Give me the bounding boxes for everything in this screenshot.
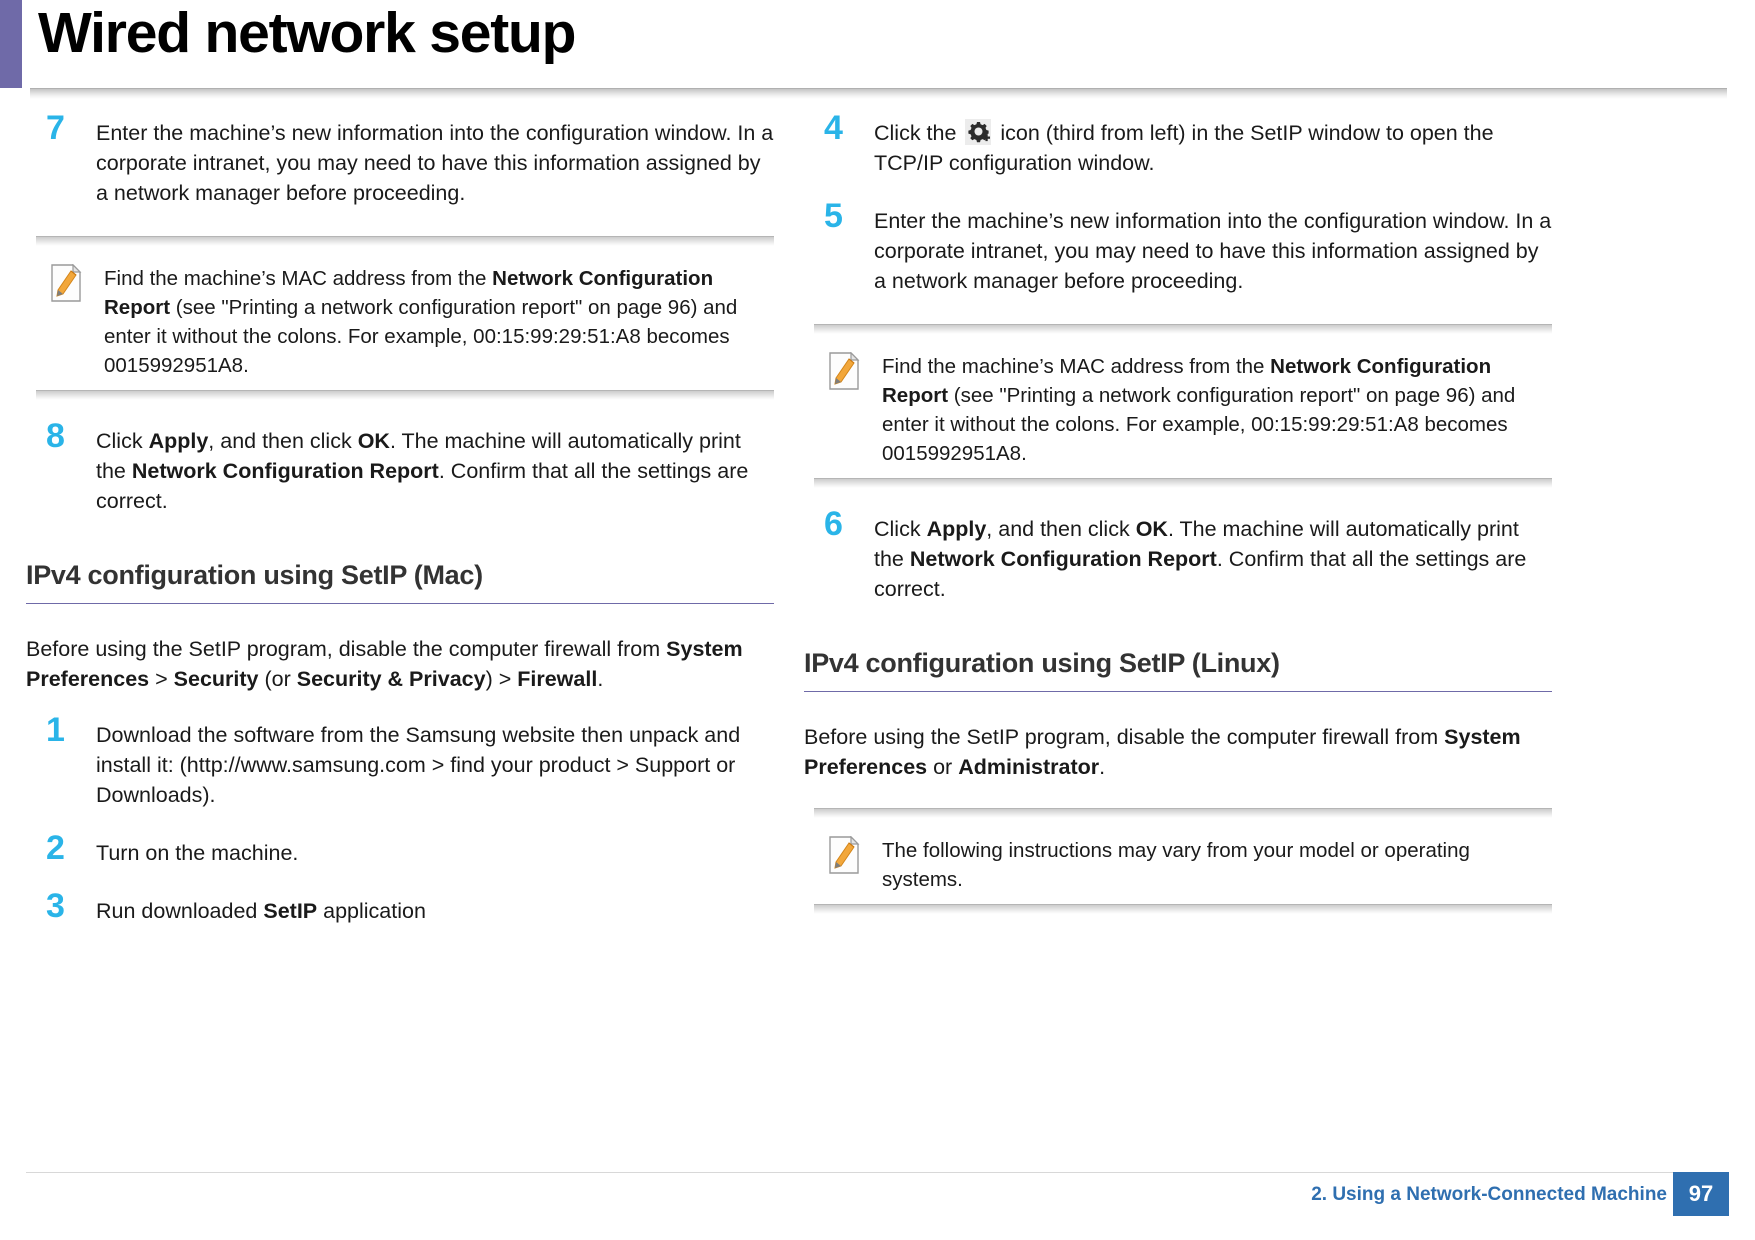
step-seg-2: , and then click	[986, 517, 1135, 541]
intro-seg-3: .	[1099, 755, 1105, 779]
step-seg-1: Click	[874, 517, 927, 541]
step-5: 5 Enter the machine’s new information in…	[804, 206, 1552, 296]
note-bottom-divider	[814, 478, 1552, 488]
step-text: Enter the machine’s new information into…	[874, 206, 1552, 296]
page-number-badge: 97	[1673, 1172, 1729, 1216]
step-bold-apply: Apply	[149, 429, 209, 453]
section-intro-paragraph: Before using the SetIP program, disable …	[26, 634, 774, 694]
page-header: Wired network setup	[0, 0, 1755, 98]
step-text: Click Apply, and then click OK. The mach…	[874, 514, 1552, 604]
note-top-divider	[814, 808, 1552, 818]
note-bottom-divider	[36, 390, 774, 400]
step-bold-report: Network Configuration Report	[910, 547, 1217, 571]
intro-seg-3: (or	[259, 667, 297, 691]
note-pencil-icon	[828, 352, 860, 390]
intro-seg-2: or	[927, 755, 958, 779]
note-box: The following instructions may vary from…	[814, 808, 1552, 914]
step-text: Enter the machine’s new information into…	[96, 118, 774, 208]
section-underline	[26, 603, 774, 604]
intro-seg-4: ) >	[486, 667, 518, 691]
section-heading: IPv4 configuration using SetIP (Mac)	[26, 560, 774, 603]
step-number: 5	[824, 199, 843, 233]
right-column: 4 Click the icon (third from left) in th…	[804, 118, 1552, 940]
section-intro-paragraph: Before using the SetIP program, disable …	[804, 722, 1552, 782]
note-pencil-icon	[50, 264, 82, 302]
page-title: Wired network setup	[38, 2, 575, 66]
step-2: 2 Turn on the machine.	[26, 838, 774, 868]
step-seg-1: Click the	[874, 121, 962, 145]
step-text: Run downloaded SetIP application	[96, 896, 774, 926]
intro-bold-security: Security	[174, 667, 259, 691]
step-3: 3 Run downloaded SetIP application	[26, 896, 774, 926]
step-bold-apply: Apply	[927, 517, 987, 541]
step-seg-2: , and then click	[208, 429, 357, 453]
note-seg-1: Find the machine’s MAC address from the	[104, 267, 492, 290]
step-number: 3	[46, 889, 65, 923]
note-seg-1: Find the machine’s MAC address from the	[882, 355, 1270, 378]
intro-seg-2: >	[149, 667, 174, 691]
step-number: 7	[46, 111, 65, 145]
note-seg-2: (see "Printing a network configuration r…	[882, 384, 1515, 465]
note-text: Find the machine’s MAC address from the …	[104, 264, 770, 380]
step-7: 7 Enter the machine’s new information in…	[26, 118, 774, 208]
step-number: 8	[46, 419, 65, 453]
page-footer: 2. Using a Network-Connected Machine 97	[26, 1174, 1729, 1214]
note-box: Find the machine’s MAC address from the …	[36, 236, 774, 400]
step-bold-ok: OK	[358, 429, 390, 453]
step-seg-1: Click	[96, 429, 149, 453]
intro-seg-1: Before using the SetIP program, disable …	[804, 725, 1444, 749]
note-text: Find the machine’s MAC address from the …	[882, 352, 1548, 468]
step-number: 6	[824, 507, 843, 541]
footer-chapter-label: 2. Using a Network-Connected Machine	[1311, 1184, 1667, 1206]
step-number: 4	[824, 111, 843, 145]
section-ipv4-linux: IPv4 configuration using SetIP (Linux)	[804, 648, 1552, 692]
note-text: The following instructions may vary from…	[882, 836, 1548, 894]
step-bold-report: Network Configuration Report	[132, 459, 439, 483]
section-heading: IPv4 configuration using SetIP (Linux)	[804, 648, 1552, 691]
step-bold-ok: OK	[1136, 517, 1168, 541]
footer-divider	[26, 1172, 1729, 1173]
intro-bold-security-privacy: Security & Privacy	[297, 667, 486, 691]
intro-bold-firewall: Firewall	[517, 667, 597, 691]
step-seg-1: Run downloaded	[96, 899, 263, 923]
note-pencil-icon	[828, 836, 860, 874]
intro-bold-administrator: Administrator	[958, 755, 1099, 779]
step-bold-setip: SetIP	[263, 899, 317, 923]
step-8: 8 Click Apply, and then click OK. The ma…	[26, 426, 774, 516]
left-column: 7 Enter the machine’s new information in…	[26, 118, 774, 954]
section-underline	[804, 691, 1552, 692]
step-6: 6 Click Apply, and then click OK. The ma…	[804, 514, 1552, 604]
step-text: Download the software from the Samsung w…	[96, 720, 774, 810]
step-seg-2: application	[317, 899, 426, 923]
section-ipv4-mac: IPv4 configuration using SetIP (Mac)	[26, 560, 774, 604]
note-bottom-divider	[814, 904, 1552, 914]
step-number: 2	[46, 831, 65, 865]
intro-seg-1: Before using the SetIP program, disable …	[26, 637, 666, 661]
step-text: Click the icon (third from left) in the …	[874, 118, 1552, 178]
note-box: Find the machine’s MAC address from the …	[814, 324, 1552, 488]
step-4: 4 Click the icon (third from left) in th…	[804, 118, 1552, 178]
step-number: 1	[46, 713, 65, 747]
gear-plus-icon	[965, 119, 991, 145]
note-top-divider	[814, 324, 1552, 334]
note-top-divider	[36, 236, 774, 246]
header-divider	[30, 88, 1727, 99]
step-1: 1 Download the software from the Samsung…	[26, 720, 774, 810]
intro-seg-5: .	[597, 667, 603, 691]
header-accent-bar	[0, 0, 22, 88]
note-seg-2: (see "Printing a network configuration r…	[104, 296, 737, 377]
step-text: Click Apply, and then click OK. The mach…	[96, 426, 774, 516]
step-text: Turn on the machine.	[96, 838, 774, 868]
